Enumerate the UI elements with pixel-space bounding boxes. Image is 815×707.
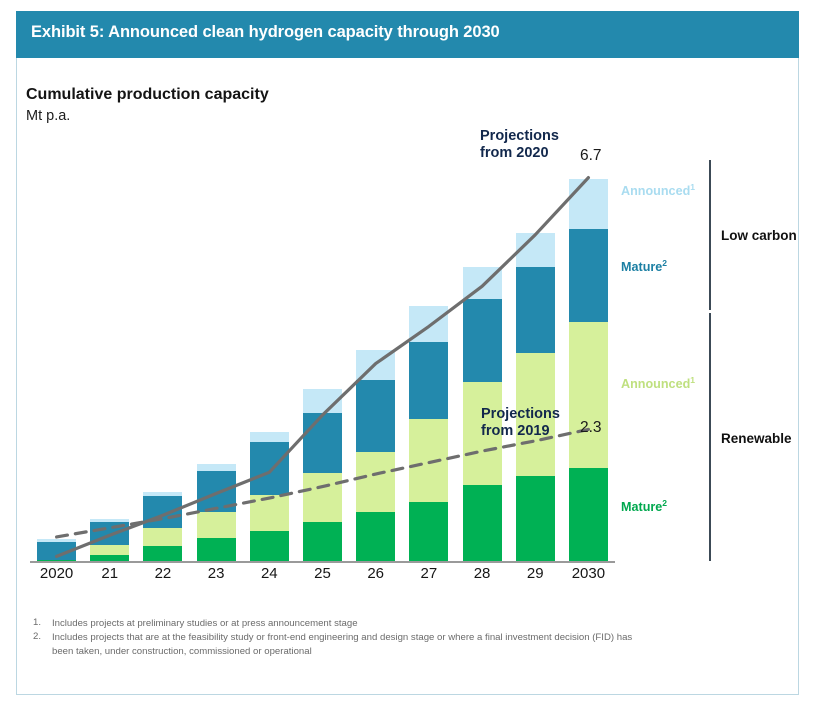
bar-segment-low_carbon_mature[interactable] — [303, 413, 342, 473]
bar-segment-low_carbon_announced[interactable] — [356, 350, 395, 380]
bar-segment-low_carbon_announced[interactable] — [37, 539, 76, 542]
annotation-projections-2020: Projections from 2020 — [480, 128, 559, 162]
x-axis-label: 28 — [455, 565, 508, 582]
bar-segment-low_carbon_announced[interactable] — [409, 306, 448, 341]
bar-segment-low_carbon_mature[interactable] — [143, 496, 182, 527]
annotation-projections-2020-line1: Projections — [480, 128, 559, 145]
annotation-projections-2019-line1: Projections — [481, 406, 560, 423]
x-axis-label: 26 — [349, 565, 402, 582]
bar-segment-renewable_mature[interactable] — [356, 512, 395, 562]
bar-segment-renewable_mature[interactable] — [463, 485, 502, 562]
bar-segment-renewable_mature[interactable] — [250, 531, 289, 562]
series-label-renewable-mature: Mature2 — [621, 498, 667, 514]
bar-segment-low_carbon_mature[interactable] — [37, 542, 76, 560]
bar-segment-low_carbon_announced[interactable] — [516, 233, 555, 267]
plot-area — [30, 150, 620, 562]
series-label-low-carbon-announced: Announced1 — [621, 182, 695, 198]
value-label-renewable-2030: 2.3 — [580, 419, 602, 437]
bar-segment-renewable_announced[interactable] — [303, 473, 342, 522]
bracket-label-low-carbon: Low carbon — [721, 228, 797, 243]
chart-subtitle: Mt p.a. — [26, 108, 70, 124]
annotation-projections-2019-line2: from 2019 — [481, 423, 560, 440]
series-label-text: Announced — [621, 184, 690, 198]
bracket-label-renewable: Renewable — [721, 431, 792, 446]
footnote-2-text: Includes projects that are at the feasib… — [52, 631, 652, 659]
bar-segment-low_carbon_announced[interactable] — [143, 492, 182, 497]
bar-segment-renewable_announced[interactable] — [569, 322, 608, 468]
bar-segment-low_carbon_announced[interactable] — [250, 432, 289, 442]
bar-segment-low_carbon_mature[interactable] — [569, 229, 608, 322]
value-label-total-2030: 6.7 — [580, 147, 602, 165]
series-label-superscript: 1 — [690, 182, 695, 192]
bar-segment-renewable_announced[interactable] — [197, 512, 236, 538]
annotation-projections-2019: Projections from 2019 — [481, 406, 560, 440]
bar-segment-renewable_mature[interactable] — [569, 468, 608, 562]
bracket-low-carbon-line — [709, 160, 711, 310]
x-axis-label: 2020 — [30, 565, 83, 582]
bar-segment-renewable_announced[interactable] — [409, 419, 448, 502]
chart-title: Cumulative production capacity — [26, 86, 269, 104]
bar-segment-low_carbon_mature[interactable] — [197, 471, 236, 512]
footnote-2-number: 2. — [33, 631, 41, 642]
bar-segment-low_carbon_mature[interactable] — [516, 267, 555, 353]
x-axis-line — [30, 561, 615, 563]
bar-segment-low_carbon_mature[interactable] — [90, 522, 129, 545]
exhibit-title: Exhibit 5: Announced clean hydrogen capa… — [31, 23, 500, 42]
series-label-text: Announced — [621, 377, 690, 391]
bracket-renewable-line — [709, 313, 711, 561]
bar-segment-low_carbon_announced[interactable] — [303, 389, 342, 413]
bar-segment-low_carbon_announced[interactable] — [197, 464, 236, 471]
bar-segment-low_carbon_mature[interactable] — [409, 342, 448, 419]
series-label-superscript: 2 — [662, 258, 667, 268]
series-label-renewable-announced: Announced1 — [621, 375, 695, 391]
x-axis-label: 25 — [296, 565, 349, 582]
bar-segment-low_carbon_announced[interactable] — [569, 179, 608, 229]
chart-exhibit: Exhibit 5: Announced clean hydrogen capa… — [0, 0, 815, 707]
x-axis-label: 2030 — [562, 565, 615, 582]
bar-segment-low_carbon_announced[interactable] — [90, 519, 129, 522]
x-axis-label: 21 — [83, 565, 136, 582]
bar-segment-renewable_announced[interactable] — [356, 452, 395, 512]
footnote-1-number: 1. — [33, 617, 41, 628]
bar-segment-low_carbon_mature[interactable] — [356, 380, 395, 452]
x-axis-label: 23 — [190, 565, 243, 582]
bar-segment-low_carbon_mature[interactable] — [463, 299, 502, 382]
series-label-text: Mature — [621, 500, 662, 514]
annotation-projections-2020-line2: from 2020 — [480, 145, 559, 162]
footnote-1-text: Includes projects at preliminary studies… — [52, 617, 652, 631]
series-label-text: Mature — [621, 260, 662, 274]
series-label-superscript: 2 — [662, 498, 667, 508]
bar-segment-renewable_announced[interactable] — [250, 495, 289, 530]
x-axis-label: 22 — [136, 565, 189, 582]
bar-segment-renewable_mature[interactable] — [143, 546, 182, 562]
bar-segment-renewable_announced[interactable] — [143, 528, 182, 546]
x-axis-label: 24 — [243, 565, 296, 582]
bar-segment-renewable_announced[interactable] — [90, 545, 129, 555]
bar-segment-renewable_mature[interactable] — [197, 538, 236, 562]
x-axis-label: 29 — [509, 565, 562, 582]
bar-segment-low_carbon_mature[interactable] — [250, 442, 289, 495]
bar-segment-low_carbon_announced[interactable] — [463, 267, 502, 298]
bar-segment-renewable_mature[interactable] — [516, 476, 555, 562]
bar-segment-renewable_mature[interactable] — [303, 522, 342, 562]
series-label-superscript: 1 — [690, 375, 695, 385]
bar-segment-renewable_mature[interactable] — [409, 502, 448, 562]
series-label-low-carbon-mature: Mature2 — [621, 258, 667, 274]
x-axis-label: 27 — [402, 565, 455, 582]
